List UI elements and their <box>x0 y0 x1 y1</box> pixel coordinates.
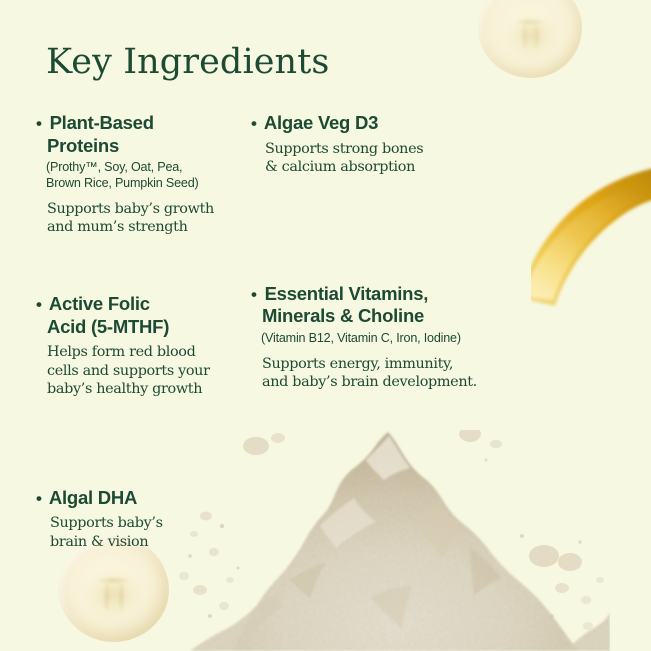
ingredient-benefit-line-1: Supports baby’s growth <box>47 201 214 217</box>
ingredients-column-right: Algae Veg D3 Supports strong bones & cal… <box>251 112 521 392</box>
ingredient-benefit-line-1: Helps form red blood <box>47 344 195 360</box>
infographic-canvas: Key Ingredients Plant-Based Proteins (Pr… <box>0 0 651 651</box>
ingredient-benefit: Supports strong bones & calcium absorpti… <box>251 140 521 177</box>
ingredient-benefit: Supports baby’s brain & vision <box>36 514 246 551</box>
ingredient-benefit-line-2: and mum’s strength <box>47 219 188 235</box>
ingredient-sources: (Prothy™, Soy, Oat, Pea, Brown Rice, Pum… <box>36 160 246 192</box>
ingredient-benefit-line-2: & calcium absorption <box>265 159 415 175</box>
ingredient-heading-line-1: Algal DHA <box>49 487 137 508</box>
ingredient-heading-line-1: Active Folic <box>49 293 150 314</box>
ingredients-column-left: Plant-Based Proteins (Prothy™, Soy, Oat,… <box>36 112 246 551</box>
ingredient-heading-line-2: Proteins <box>47 135 119 156</box>
ingredient-benefit: Supports energy, immunity, and baby’s br… <box>251 355 521 392</box>
ingredient-heading: Essential Vitamins, Minerals & Choline <box>251 283 521 328</box>
ingredient-heading-line-1: Plant-Based <box>50 112 154 133</box>
ingredient-algal-dha: Algal DHA Supports baby’s brain & vision <box>36 487 246 552</box>
ingredient-heading: Algae Veg D3 <box>251 112 521 135</box>
ingredient-benefit-line-3: baby’s healthy growth <box>47 381 202 397</box>
ingredient-heading-line-2: Minerals & Choline <box>262 305 424 326</box>
ingredient-benefit-line-1: Supports energy, immunity, <box>262 356 453 372</box>
ingredient-benefit-line-2: brain & vision <box>50 534 148 550</box>
ingredient-benefit-line-1: Supports strong bones <box>265 141 423 157</box>
ingredient-benefit: Helps form red blood cells and supports … <box>36 343 246 399</box>
ingredient-benefit-line-1: Supports baby’s <box>50 515 163 531</box>
ingredient-sources-line-1: (Prothy™, Soy, Oat, Pea, <box>46 160 182 174</box>
ingredient-heading: Plant-Based Proteins <box>36 112 246 157</box>
ingredient-benefit: Supports baby’s growth and mum’s strengt… <box>36 200 246 237</box>
ingredient-sources-line-1: (Vitamin B12, Vitamin C, Iron, Iodine) <box>261 331 461 345</box>
ingredient-essential-vitamins: Essential Vitamins, Minerals & Choline (… <box>251 283 521 392</box>
ingredient-heading-line-1: Algae Veg D3 <box>264 112 378 133</box>
ingredient-heading-line-1: Essential Vitamins, <box>265 283 429 304</box>
ingredient-plant-based-proteins: Plant-Based Proteins (Prothy™, Soy, Oat,… <box>36 112 246 237</box>
ingredient-sources: (Vitamin B12, Vitamin C, Iron, Iodine) <box>251 331 521 347</box>
ingredient-sources-line-2: Brown Rice, Pumpkin Seed) <box>46 176 199 190</box>
ingredient-heading: Algal DHA <box>36 487 246 510</box>
ingredient-benefit-line-2: cells and supports your <box>47 363 210 379</box>
ingredient-algae-veg-d3: Algae Veg D3 Supports strong bones & cal… <box>251 112 521 177</box>
ingredient-heading: Active Folic Acid (5-MTHF) <box>36 293 246 338</box>
ingredient-active-folic-acid: Active Folic Acid (5-MTHF) Helps form re… <box>36 293 246 399</box>
page-title: Key Ingredients <box>46 42 329 82</box>
ingredient-heading-line-2: Acid (5-MTHF) <box>47 316 169 337</box>
ingredient-benefit-line-2: and baby’s brain development. <box>262 374 477 390</box>
